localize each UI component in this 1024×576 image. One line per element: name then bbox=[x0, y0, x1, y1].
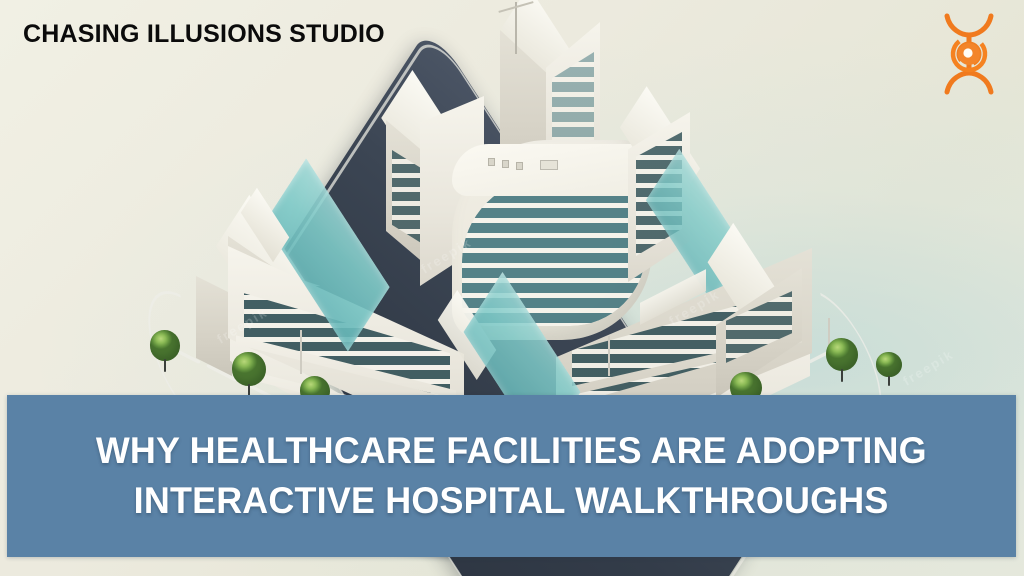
lamp-post bbox=[608, 336, 610, 376]
tree bbox=[150, 330, 180, 372]
banner-title-line-1: WHY HEALTHCARE FACILITIES ARE ADOPTING bbox=[96, 426, 927, 476]
roof-furniture bbox=[488, 158, 495, 166]
poster-canvas: freepik freepik freepik freepik CHASING … bbox=[0, 0, 1024, 576]
tree-trunk bbox=[164, 359, 166, 372]
tree-crown bbox=[826, 338, 858, 371]
tree bbox=[232, 352, 266, 398]
tree bbox=[826, 338, 858, 382]
curved-tower-roof bbox=[452, 144, 652, 196]
roof-mast bbox=[515, 2, 517, 54]
roof-furniture bbox=[540, 160, 558, 170]
title-banner: WHY HEALTHCARE FACILITIES ARE ADOPTING I… bbox=[7, 395, 1016, 557]
roof-furniture bbox=[502, 160, 509, 168]
roof-furniture bbox=[516, 162, 523, 170]
lamp-post bbox=[300, 330, 302, 374]
tree bbox=[876, 352, 902, 386]
banner-title-line-2: INTERACTIVE HOSPITAL WALKTHROUGHS bbox=[134, 476, 889, 526]
tree-trunk bbox=[841, 369, 844, 382]
studio-name: CHASING ILLUSIONS STUDIO bbox=[23, 22, 385, 47]
tree-crown bbox=[876, 352, 902, 377]
tree-crown bbox=[150, 330, 180, 361]
tree-trunk bbox=[888, 376, 890, 386]
tree-crown bbox=[232, 352, 266, 386]
chasing-illusions-logo-icon[interactable] bbox=[934, 8, 1004, 100]
